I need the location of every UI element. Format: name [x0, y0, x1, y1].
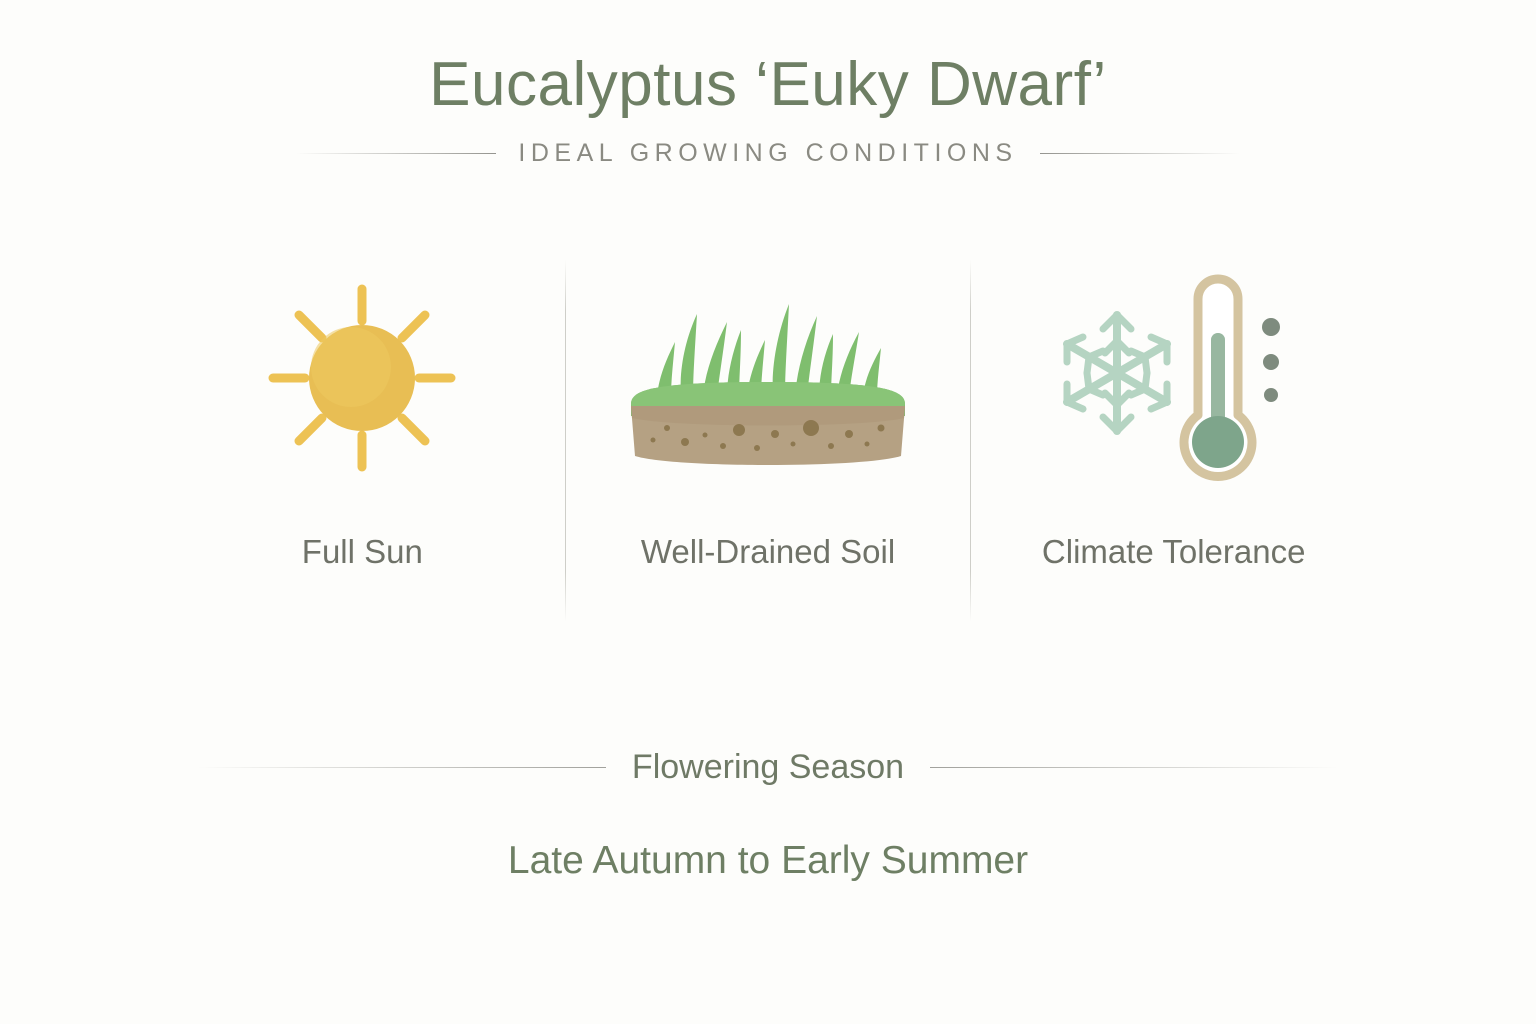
condition-label-well-drained-soil: Well-Drained Soil	[641, 533, 895, 571]
sun-icon	[257, 260, 467, 495]
condition-card-climate-tolerance: Climate Tolerance	[971, 260, 1376, 622]
thermometer-glyph	[1184, 279, 1252, 476]
subtitle-rule-left	[296, 153, 496, 154]
condition-card-full-sun: Full Sun	[160, 260, 565, 622]
flowering-section: Flowering Season Late Autumn to Early Su…	[0, 748, 1536, 883]
conditions-row: Full Sun	[160, 260, 1376, 622]
condition-label-full-sun: Full Sun	[302, 533, 423, 571]
header: Eucalyptus ‘Euky Dwarf’ IDEAL GROWING CO…	[0, 52, 1536, 168]
infographic-root: Eucalyptus ‘Euky Dwarf’ IDEAL GROWING CO…	[0, 0, 1536, 1024]
flowering-rule-left	[198, 767, 606, 768]
snowflake-thermometer-icon	[1059, 260, 1289, 495]
condition-label-climate-tolerance: Climate Tolerance	[1042, 533, 1306, 571]
flowering-heading-row: Flowering Season	[198, 748, 1338, 787]
flowering-heading: Flowering Season	[632, 748, 904, 787]
flowering-value: Late Autumn to Early Summer	[508, 839, 1028, 883]
flowering-rule-right	[930, 767, 1338, 768]
page-subtitle: IDEAL GROWING CONDITIONS	[518, 139, 1017, 168]
snowflake-glyph	[1067, 315, 1167, 431]
subtitle-rule-right	[1040, 153, 1240, 154]
condition-card-well-drained-soil: Well-Drained Soil	[566, 260, 971, 622]
subtitle-row: IDEAL GROWING CONDITIONS	[0, 139, 1536, 168]
page-title: Eucalyptus ‘Euky Dwarf’	[0, 52, 1536, 117]
heat-dots	[1262, 318, 1280, 402]
soil-grass-icon	[623, 260, 913, 495]
